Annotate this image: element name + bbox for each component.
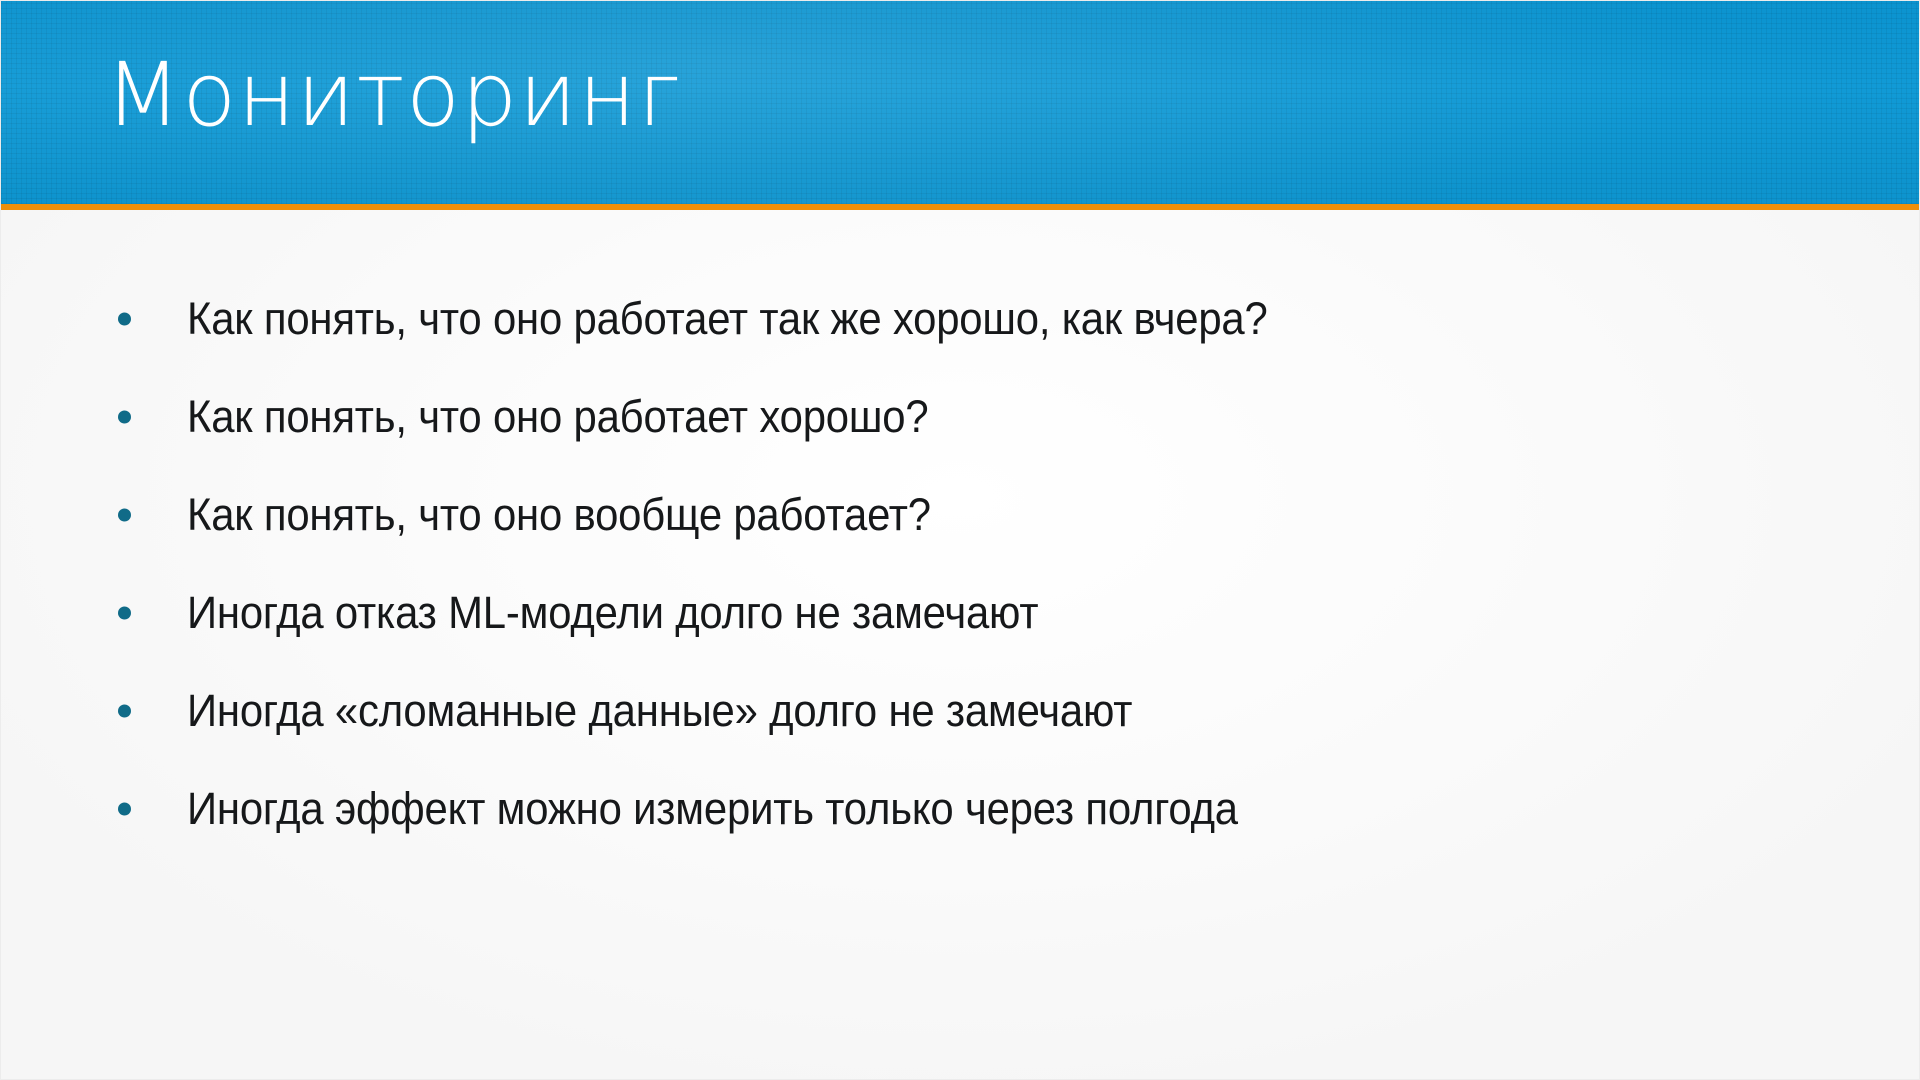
list-item: Иногда эффект можно измерить только чере… [105, 760, 1825, 858]
list-item-label: Иногда отказ ML-модели долго не замечают [187, 588, 1038, 638]
bullet-list: Как понять, что оно работает так же хоро… [105, 270, 1825, 858]
bullet-dot-icon [118, 313, 131, 326]
list-item-label: Как понять, что оно работает хорошо? [187, 392, 928, 442]
list-item-label: Иногда «сломанные данные» долго не замеч… [187, 686, 1132, 736]
bullet-dot-icon [118, 509, 131, 522]
presentation-slide: Мониторинг Как понять, что оно работает … [0, 0, 1920, 1080]
bullet-dot-icon [118, 705, 131, 718]
slide-header-banner: Мониторинг [1, 1, 1920, 204]
list-item-label: Иногда эффект можно измерить только чере… [187, 784, 1238, 834]
list-item: Иногда «сломанные данные» долго не замеч… [105, 662, 1825, 760]
bullet-dot-icon [118, 803, 131, 816]
list-item: Как понять, что оно вообще работает? [105, 466, 1825, 564]
page-title: Мониторинг [105, 47, 682, 142]
bullet-dot-icon [118, 607, 131, 620]
list-item: Как понять, что оно работает так же хоро… [105, 270, 1825, 368]
list-item-label: Как понять, что оно работает так же хоро… [187, 294, 1268, 344]
list-item-label: Как понять, что оно вообще работает? [187, 490, 931, 540]
list-item: Иногда отказ ML-модели долго не замечают [105, 564, 1825, 662]
slide-content-area: Как понять, что оно работает так же хоро… [1, 210, 1920, 1080]
list-item: Как понять, что оно работает хорошо? [105, 368, 1825, 466]
bullet-dot-icon [118, 411, 131, 424]
